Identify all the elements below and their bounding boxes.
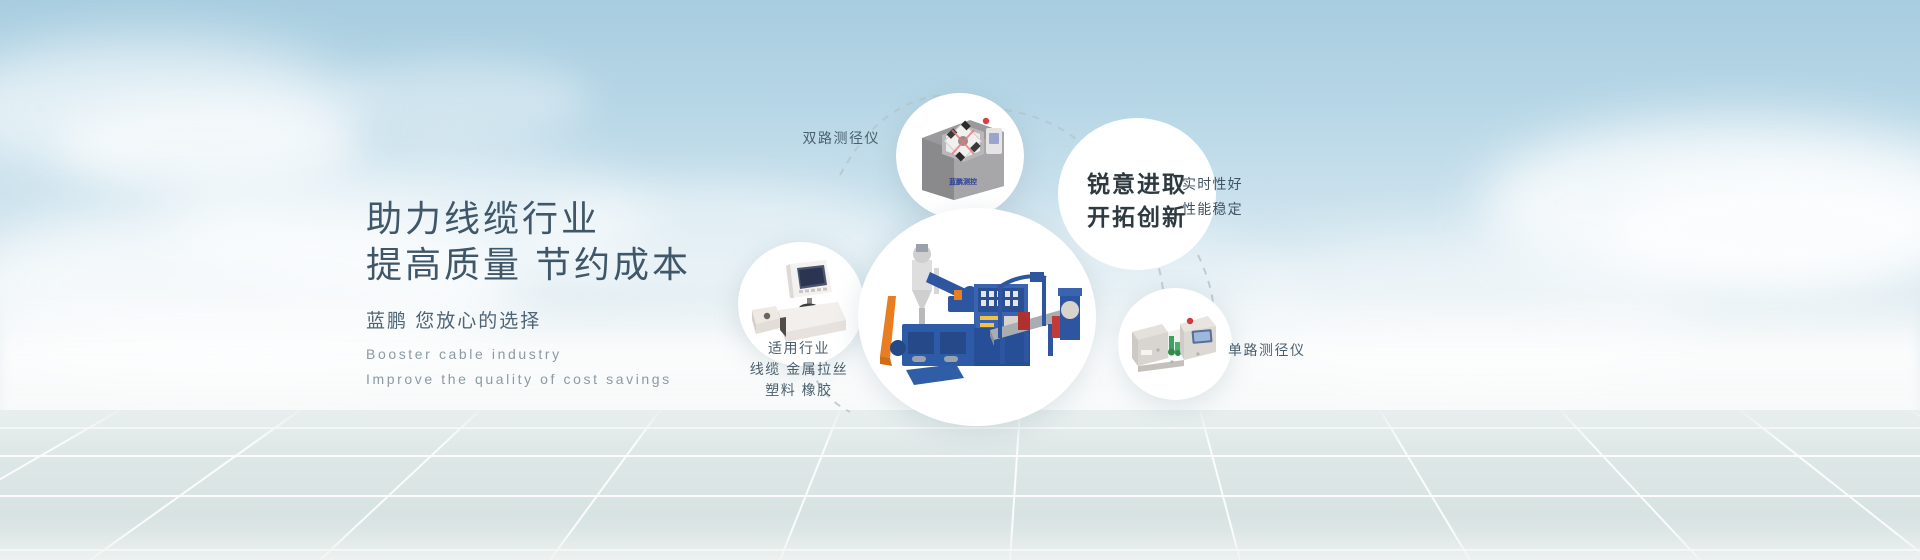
label-single-gauge: 单路测径仪 xyxy=(1228,340,1306,361)
dual-gauge-artwork: 蓝鹏测控 xyxy=(912,108,1012,204)
single-gauge-artwork xyxy=(1128,306,1224,386)
svg-text:蓝鹏测控: 蓝鹏测控 xyxy=(949,177,977,186)
cloud-shape xyxy=(330,60,590,140)
label-dual-gauge: 双路测径仪 xyxy=(760,128,880,149)
console-artwork xyxy=(750,258,854,350)
feature-list: 实时性好 性能稳定 xyxy=(1182,172,1243,222)
extrusion-line-artwork xyxy=(872,238,1084,388)
feature-line-1: 实时性好 xyxy=(1182,172,1243,197)
promo-banner: 助力线缆行业 提高质量 节约成本 蓝鹏 您放心的选择 Booster cable… xyxy=(0,0,1920,560)
feature-line-2: 性能稳定 xyxy=(1182,197,1243,222)
product-composition: 蓝鹏测控 双路测径仪 xyxy=(700,0,1920,560)
